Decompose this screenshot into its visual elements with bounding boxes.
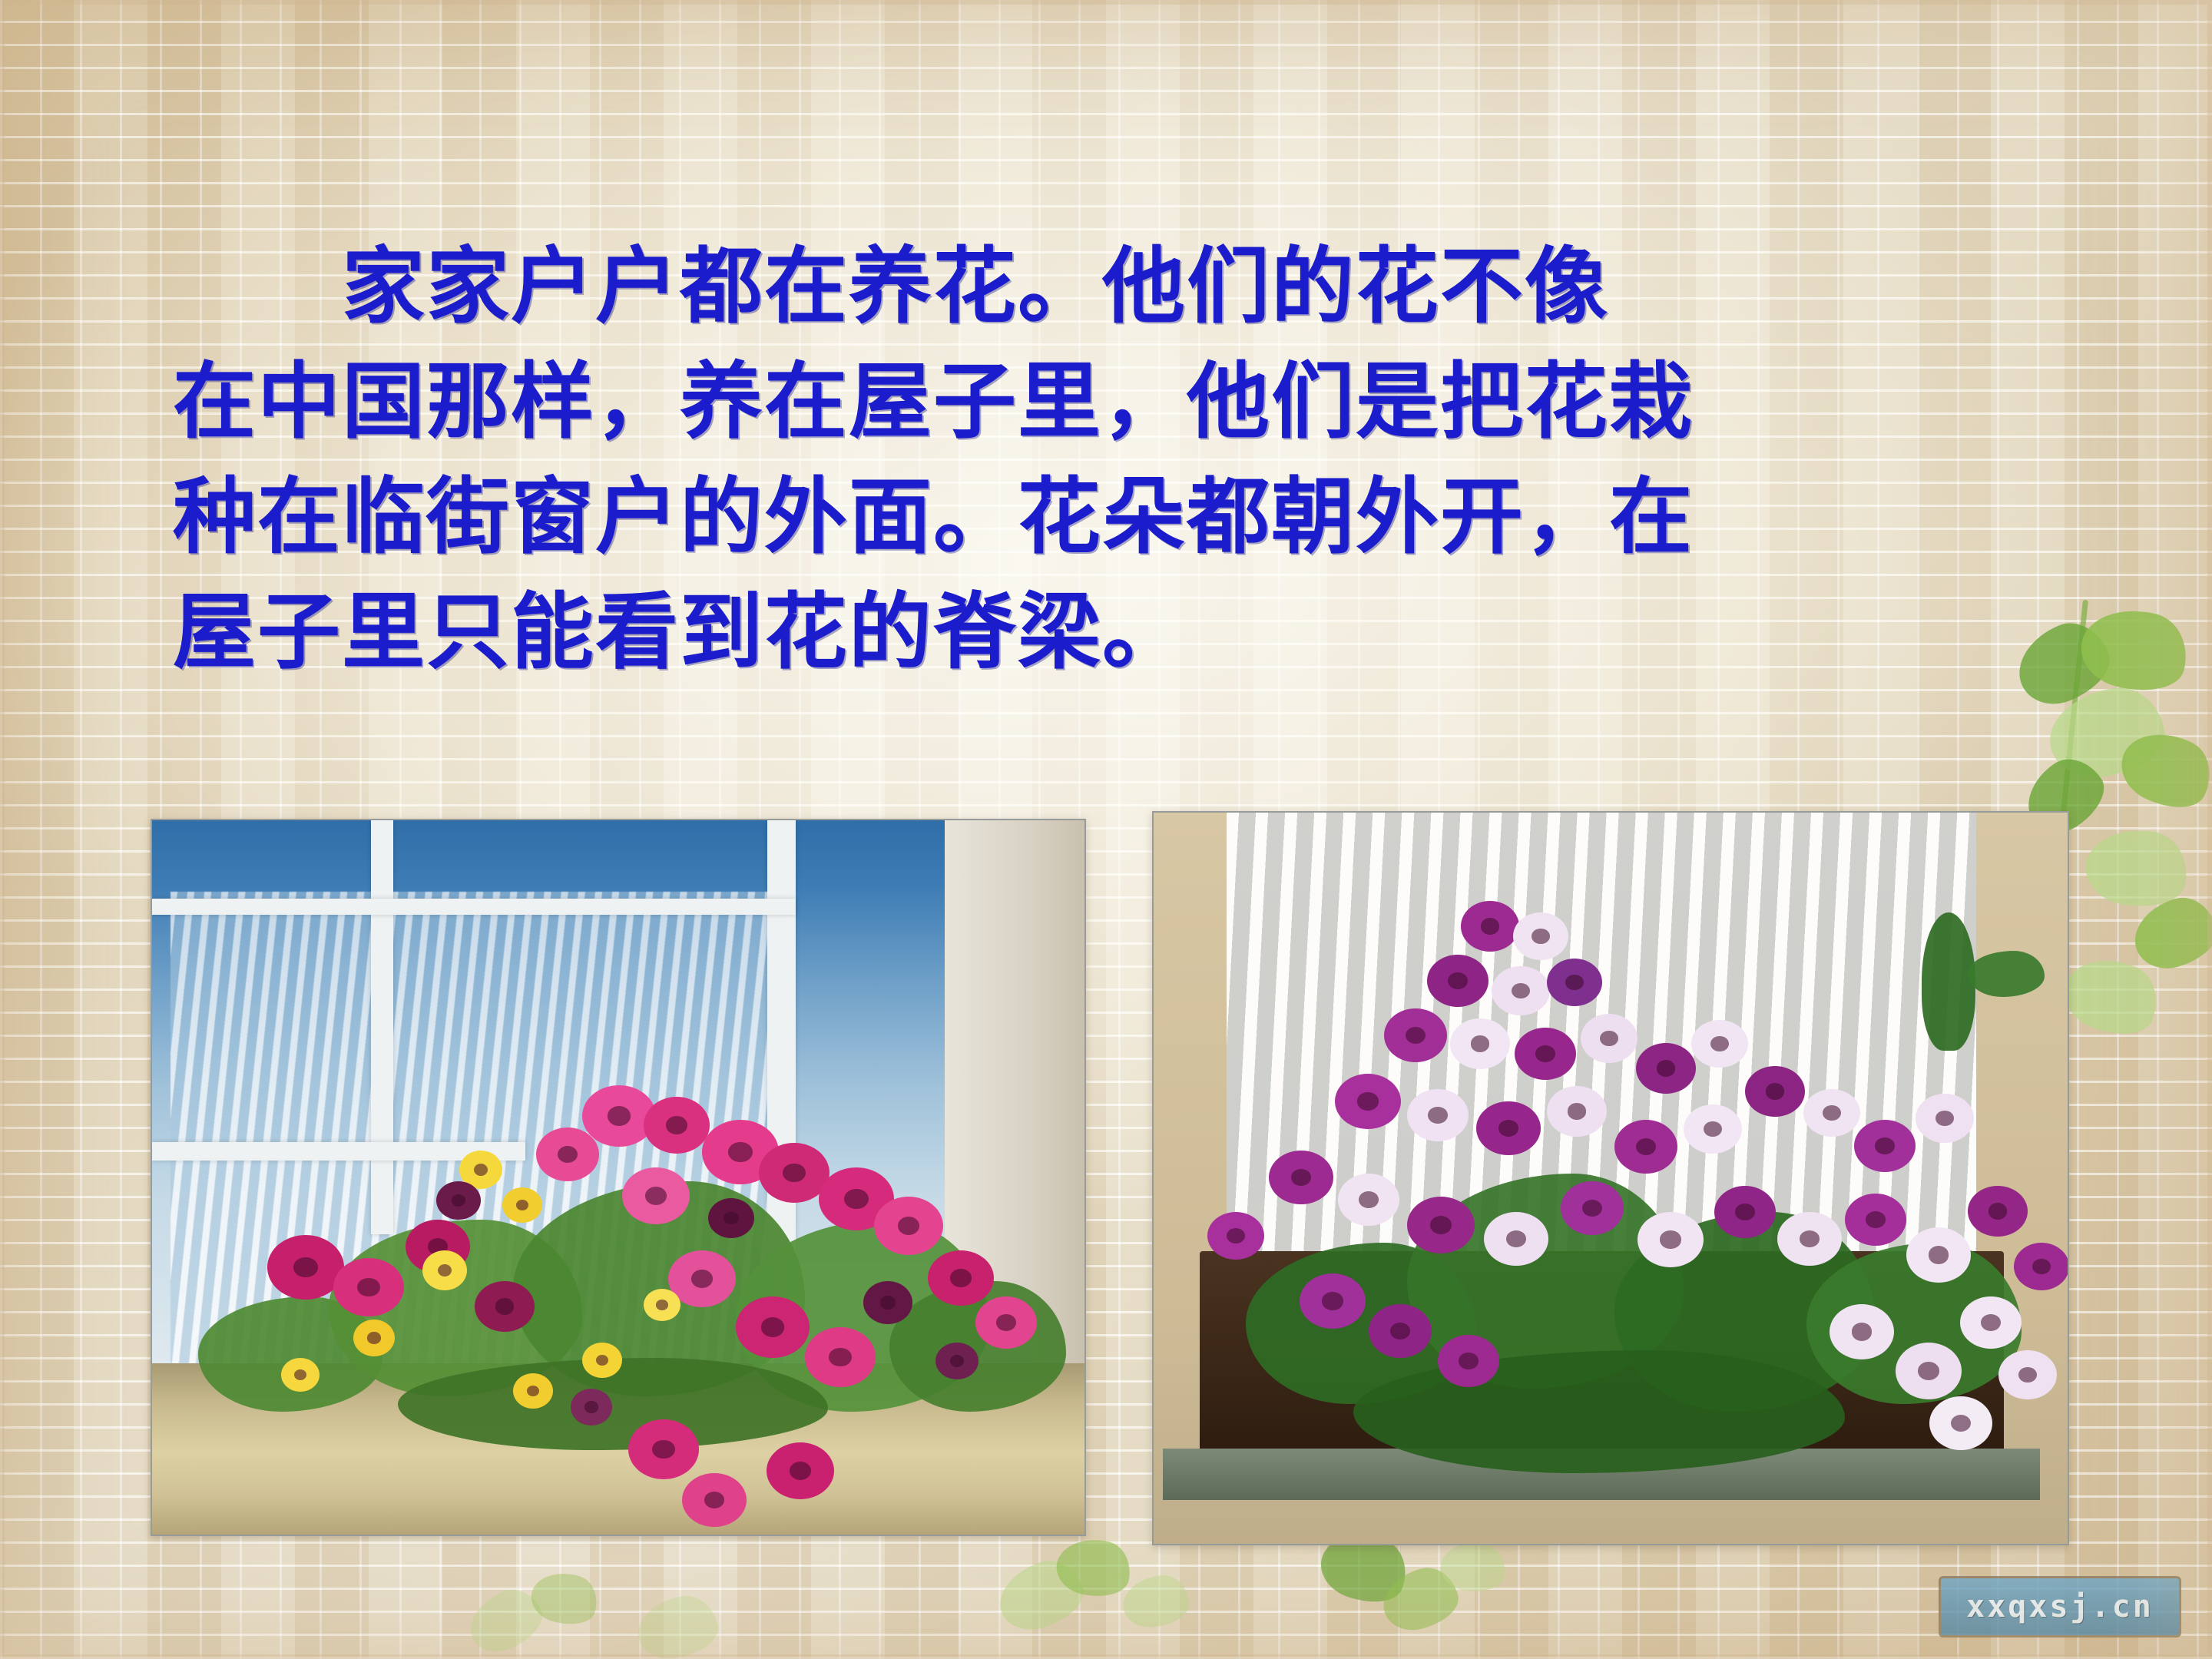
flower <box>1929 1396 1992 1450</box>
flower <box>874 1197 943 1255</box>
flower <box>1845 1194 1906 1246</box>
flower <box>1614 1120 1677 1174</box>
ivy-leaf <box>2073 598 2195 701</box>
ivy-leaf <box>2055 945 2168 1048</box>
flower <box>1998 1350 2057 1399</box>
green-sprig <box>1968 951 2045 997</box>
flower <box>975 1296 1037 1349</box>
ivy-leaf <box>991 1552 1091 1638</box>
flower <box>682 1473 747 1527</box>
body-line-3: 种在临街窗户的外面。花朵都朝外开，在 <box>173 461 2039 576</box>
flower <box>1476 1101 1541 1155</box>
photo-left-window-flowerbox <box>151 819 1086 1536</box>
flower <box>1338 1174 1399 1226</box>
flower <box>1407 1089 1469 1141</box>
flower <box>1684 1104 1742 1154</box>
flower <box>1830 1304 1894 1359</box>
flower <box>1636 1043 1696 1094</box>
flower <box>1369 1304 1432 1358</box>
flower <box>436 1181 481 1220</box>
photo-right-window-flowerbox <box>1152 811 2069 1545</box>
flower <box>582 1343 622 1378</box>
window-mullion <box>371 820 393 1234</box>
flower <box>333 1258 404 1316</box>
flower <box>502 1187 542 1223</box>
flower <box>1691 1020 1748 1068</box>
flower <box>1637 1212 1704 1267</box>
body-line-4: 屋子里只能看到花的脊梁。 <box>173 576 2039 691</box>
flower <box>267 1235 344 1300</box>
flower <box>644 1289 680 1321</box>
flower <box>1384 1008 1447 1062</box>
flower <box>1407 1197 1475 1253</box>
ivy-leaf <box>2044 682 2170 783</box>
flower <box>1968 1186 2028 1237</box>
flower <box>422 1250 467 1290</box>
body-line-2: 在中国那样，养在屋子里，他们是把花栽 <box>173 346 2039 461</box>
window-mullion <box>152 899 796 914</box>
flower <box>1547 1086 1607 1137</box>
flower <box>571 1389 612 1426</box>
flower <box>1777 1212 1842 1266</box>
flower <box>1269 1151 1333 1204</box>
body-line-1: 家家户户都在养花。他们的花不像 <box>173 230 2039 346</box>
flower <box>622 1167 690 1224</box>
flower <box>767 1442 834 1499</box>
flower <box>1207 1212 1264 1260</box>
flower <box>513 1373 553 1409</box>
flower <box>935 1343 979 1379</box>
watermark-label: xxqxsj.cn <box>1966 1589 2154 1624</box>
flower <box>1561 1181 1624 1235</box>
flower <box>1803 1089 1860 1137</box>
flower <box>2014 1243 2069 1290</box>
flower <box>281 1358 320 1392</box>
flower <box>1547 959 1602 1006</box>
flower <box>1515 1028 1576 1080</box>
flower <box>1427 955 1488 1007</box>
flower <box>1300 1273 1366 1329</box>
flower <box>1714 1186 1776 1238</box>
flower <box>1513 912 1568 960</box>
flower <box>1906 1227 1971 1283</box>
flower <box>1581 1014 1637 1063</box>
flower <box>475 1281 535 1332</box>
flower <box>805 1327 876 1387</box>
flower <box>536 1128 599 1181</box>
ivy-leaf <box>2126 890 2212 976</box>
green-sprig <box>1922 912 1975 1051</box>
ivy-leaf <box>1051 1532 1135 1603</box>
slide-body-text: 家家户户都在养花。他们的花不像 在中国那样，养在屋子里，他们是把花栽 种在临街窗… <box>173 230 2039 691</box>
ivy-leaf <box>2080 821 2193 914</box>
slide-canvas: 家家户户都在养花。他们的花不像 在中国那样，养在屋子里，他们是把花栽 种在临街窗… <box>0 0 2212 1659</box>
flower <box>1896 1343 1962 1399</box>
ivy-leaf <box>1438 1538 1508 1595</box>
flower <box>644 1097 710 1154</box>
flower <box>1916 1094 1974 1143</box>
watermark-badge: xxqxsj.cn <box>1939 1576 2181 1637</box>
flower <box>1960 1296 2022 1349</box>
flower <box>1461 901 1519 952</box>
ivy-leaf <box>461 1581 551 1659</box>
flower <box>1450 1018 1510 1069</box>
ivy-cluster-bottom <box>983 1528 1521 1659</box>
flower <box>353 1320 395 1356</box>
flower <box>736 1296 810 1358</box>
ivy-leaf <box>2111 718 2212 821</box>
ivy-cluster-bottom-left <box>461 1567 783 1659</box>
flower <box>863 1281 912 1324</box>
ivy-leaf <box>1376 1561 1463 1636</box>
flower <box>628 1419 699 1479</box>
ivy-leaf <box>526 1565 604 1631</box>
flower <box>1438 1335 1499 1387</box>
flower <box>1854 1120 1916 1172</box>
flower <box>1335 1074 1401 1129</box>
flower <box>708 1198 754 1238</box>
flower <box>1484 1212 1548 1266</box>
flower <box>928 1250 994 1306</box>
ivy-leaf <box>1121 1573 1191 1631</box>
flower <box>1745 1066 1805 1117</box>
ivy-leaf <box>633 1591 722 1659</box>
flower <box>1492 966 1550 1015</box>
